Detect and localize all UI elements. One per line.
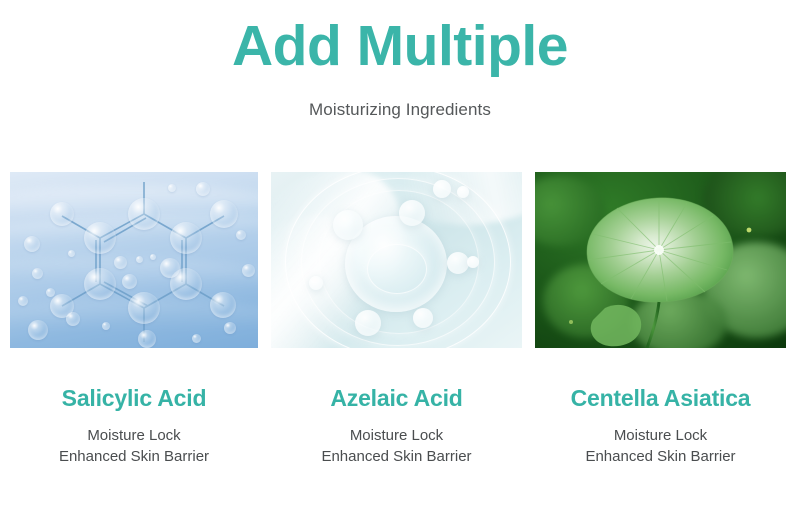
water-bubble (192, 334, 201, 343)
molecule-atom (210, 292, 236, 318)
water-bubble (46, 288, 55, 297)
water-bubble (160, 258, 180, 278)
gel-bubble (309, 276, 323, 290)
ingredient-card-salicylic-acid: Salicylic Acid Moisture Lock Enhanced Sk… (10, 385, 258, 468)
gel-droplet-scene (271, 172, 522, 348)
ingredient-benefits: Moisture Lock Enhanced Skin Barrier (271, 413, 522, 469)
centella-leaf-icon (535, 172, 786, 348)
ingredient-image-azelaic-acid (271, 172, 522, 348)
ingredient-benefit-2: Enhanced Skin Barrier (271, 446, 522, 468)
water-bubble (236, 230, 246, 240)
ingredient-benefit-1: Moisture Lock (271, 425, 522, 447)
gel-bubble (333, 210, 363, 240)
gel-bubble (467, 256, 479, 268)
page-title: Add Multiple (0, 16, 800, 78)
ingredient-name: Salicylic Acid (10, 385, 258, 413)
ingredient-benefits: Moisture Lock Enhanced Skin Barrier (10, 413, 258, 469)
molecule-atom (84, 268, 116, 300)
water-bubble (32, 268, 43, 279)
droplet-inner-ring (367, 244, 427, 294)
ingredient-image-salicylic-acid (10, 172, 258, 348)
molecule-atom (128, 292, 160, 324)
gel-bubble (447, 252, 469, 274)
water-bubble (28, 320, 48, 340)
ingredient-benefits: Moisture Lock Enhanced Skin Barrier (535, 413, 786, 469)
water-bubble (18, 296, 28, 306)
gel-bubble (355, 310, 381, 336)
gel-bubble (399, 200, 425, 226)
ingredient-card-azelaic-acid: Azelaic Acid Moisture Lock Enhanced Skin… (271, 385, 522, 468)
ingredient-benefit-2: Enhanced Skin Barrier (10, 446, 258, 468)
ingredient-image-row (10, 172, 786, 348)
water-bubble (224, 322, 236, 334)
ingredient-benefit-1: Moisture Lock (10, 425, 258, 447)
ingredient-benefit-2: Enhanced Skin Barrier (535, 446, 786, 468)
water-bubble (122, 274, 137, 289)
ingredient-name: Centella Asiatica (535, 385, 786, 413)
molecule-atom (50, 202, 74, 226)
water-bubble (114, 256, 127, 269)
water-bubble (102, 322, 110, 330)
gel-bubble (457, 186, 469, 198)
molecule-atom (170, 222, 202, 254)
water-bubble (66, 312, 80, 326)
page-subtitle: Moisturizing Ingredients (0, 78, 800, 120)
gel-bubble (413, 308, 433, 328)
ingredient-card-centella-asiatica: Centella Asiatica Moisture Lock Enhanced… (535, 385, 786, 468)
molecule-bonds-icon (10, 172, 258, 348)
water-bubble (68, 250, 75, 257)
water-bubble (242, 264, 255, 277)
ingredient-benefit-1: Moisture Lock (535, 425, 786, 447)
ingredient-caption-row: Salicylic Acid Moisture Lock Enhanced Sk… (10, 385, 786, 468)
molecule-atom (210, 200, 238, 228)
water-bubble (168, 184, 176, 192)
water-bubble (136, 256, 143, 263)
molecule-atom (128, 198, 160, 230)
gel-bubble (433, 180, 451, 198)
molecule-atom (84, 222, 116, 254)
ingredient-name: Azelaic Acid (271, 385, 522, 413)
ingredient-image-centella-asiatica (535, 172, 786, 348)
banner-header: Add Multiple Moisturizing Ingredients (0, 0, 800, 120)
water-bubble (150, 254, 156, 260)
water-bubble (196, 182, 210, 196)
product-feature-banner: Add Multiple Moisturizing Ingredients (0, 0, 800, 523)
water-bubble (138, 330, 156, 348)
water-bubble (24, 236, 40, 252)
leaf-scene (535, 172, 786, 348)
molecule-scene (10, 172, 258, 348)
